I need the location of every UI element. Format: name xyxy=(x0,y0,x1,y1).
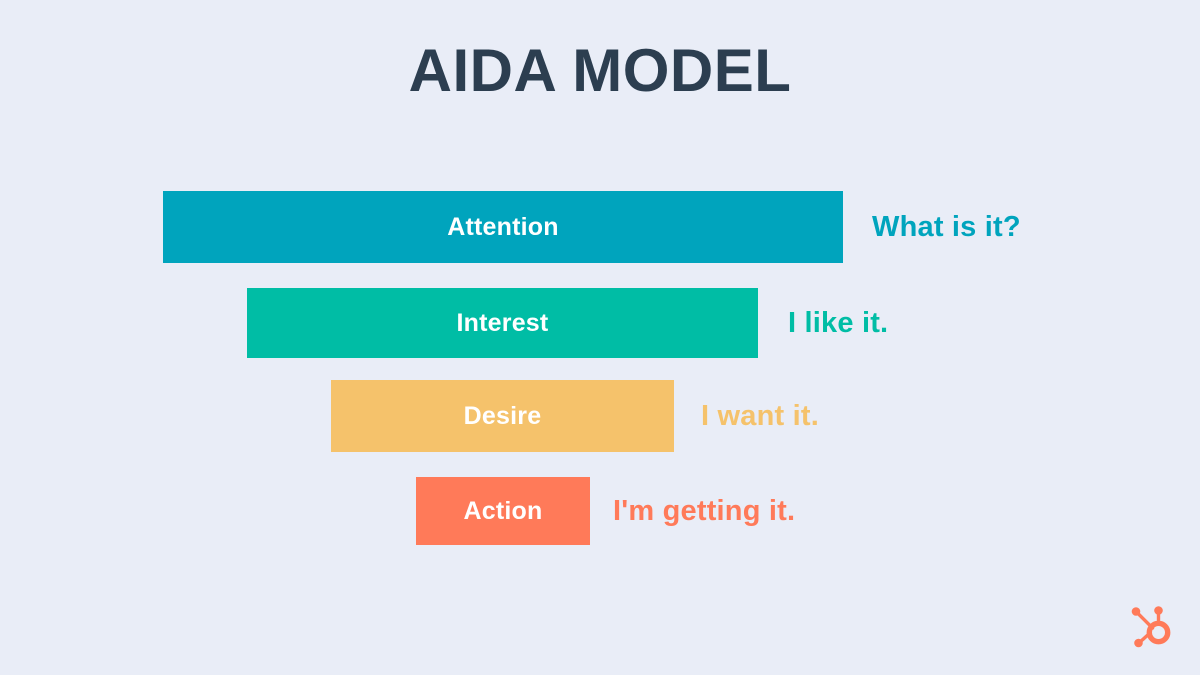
funnel-bar-label-action: Action xyxy=(464,497,543,526)
hubspot-sprocket-logo-icon xyxy=(1128,603,1176,651)
funnel-bar-desire[interactable]: Desire xyxy=(331,380,674,452)
funnel-bar-interest[interactable]: Interest xyxy=(247,288,758,358)
funnel-caption-interest: I like it. xyxy=(788,288,888,358)
funnel-row-action: Action I'm getting it. xyxy=(0,477,1200,545)
page-title: AIDA MODEL xyxy=(0,38,1200,104)
funnel-bar-label-interest: Interest xyxy=(457,309,549,338)
funnel-bar-action[interactable]: Action xyxy=(416,477,590,545)
funnel-caption-action: I'm getting it. xyxy=(613,477,795,545)
aida-funnel-diagram: Attention What is it? Interest I like it… xyxy=(0,191,1200,551)
funnel-row-desire: Desire I want it. xyxy=(0,380,1200,452)
funnel-bar-attention[interactable]: Attention xyxy=(163,191,843,263)
funnel-bar-label-desire: Desire xyxy=(464,402,542,431)
aida-model-slide: AIDA MODEL Attention What is it? Interes… xyxy=(0,0,1200,675)
funnel-row-attention: Attention What is it? xyxy=(0,191,1200,263)
funnel-bar-label-attention: Attention xyxy=(447,213,559,242)
funnel-caption-desire: I want it. xyxy=(701,380,819,452)
funnel-caption-attention: What is it? xyxy=(872,191,1021,263)
funnel-row-interest: Interest I like it. xyxy=(0,288,1200,358)
